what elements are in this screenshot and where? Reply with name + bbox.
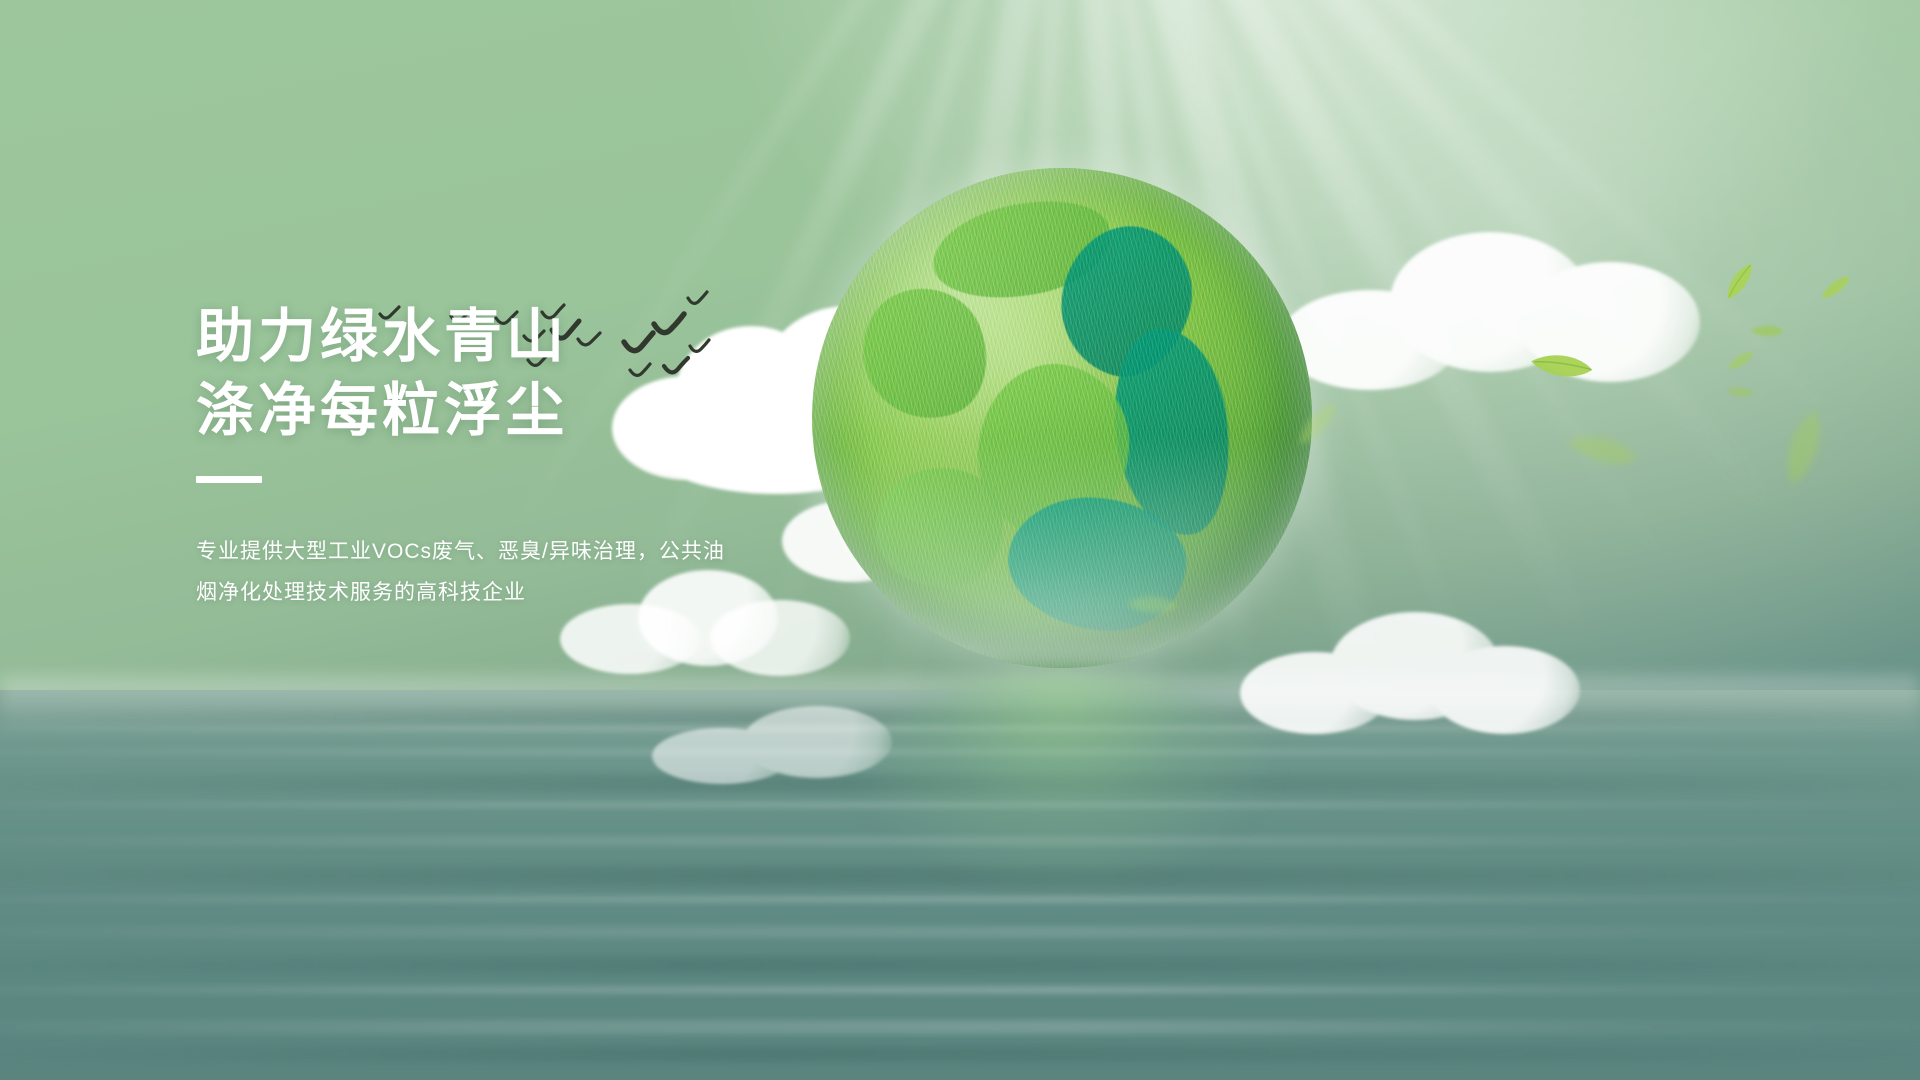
hero-copy: 助力绿水青山 涤净每粒浮尘 专业提供大型工业VOCs废气、恶臭/异味治理，公共油… bbox=[196, 300, 896, 613]
water-streak bbox=[0, 866, 1920, 886]
water-streak bbox=[0, 926, 1920, 938]
leaf-icon bbox=[1717, 261, 1764, 304]
hero-subcopy: 专业提供大型工业VOCs废气、恶臭/异味治理，公共油烟净化处理技术服务的高科技企… bbox=[196, 531, 726, 613]
leaf-icon bbox=[1725, 351, 1757, 372]
water-streak bbox=[0, 1020, 1920, 1034]
water-streak bbox=[0, 956, 1920, 974]
leaf-icon bbox=[1725, 381, 1756, 404]
leaf-icon bbox=[1563, 417, 1642, 485]
horizon-mist bbox=[0, 676, 1920, 736]
headline-line-2: 涤净每粒浮尘 bbox=[196, 374, 896, 448]
water-surface bbox=[0, 690, 1920, 1080]
leaf-icon bbox=[1766, 407, 1844, 492]
cloud bbox=[652, 700, 912, 790]
globe-reflection bbox=[846, 672, 1276, 882]
water-streak bbox=[0, 726, 1920, 731]
leaf-icon bbox=[1527, 339, 1596, 395]
leaf-icon bbox=[1749, 319, 1786, 344]
cloud bbox=[1280, 210, 1700, 410]
water-streak bbox=[0, 748, 1920, 756]
headline-line-1: 助力绿水青山 bbox=[196, 300, 896, 374]
water-streak bbox=[0, 896, 1920, 903]
leaf-icon bbox=[1816, 274, 1855, 301]
water-streak bbox=[0, 836, 1920, 846]
water-streak bbox=[0, 1046, 1920, 1062]
water-streak bbox=[0, 708, 1920, 724]
water-streak bbox=[0, 774, 1920, 792]
water-streak bbox=[0, 802, 1920, 808]
hero-banner: 助力绿水青山 涤净每粒浮尘 专业提供大型工业VOCs废气、恶臭/异味治理，公共油… bbox=[0, 0, 1920, 1080]
headline-divider bbox=[196, 476, 262, 483]
water-streak bbox=[0, 986, 1920, 994]
